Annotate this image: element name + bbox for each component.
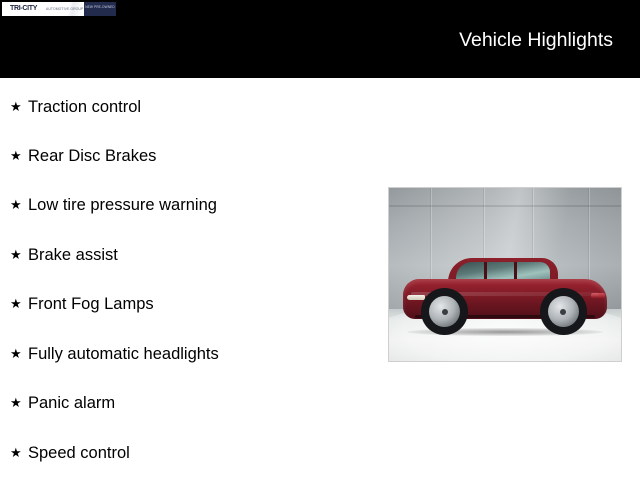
star-bullet-icon: ★ <box>10 291 28 317</box>
list-item: ★ Speed control <box>10 440 130 466</box>
list-item-label: Traction control <box>28 94 141 120</box>
taillight <box>591 293 605 298</box>
star-bullet-icon: ★ <box>10 440 28 466</box>
car-c-pillar <box>514 262 517 281</box>
list-item: ★ Fully automatic headlights <box>10 341 219 367</box>
wheel-rim <box>548 296 579 327</box>
list-item: ★ Front Fog Lamps <box>10 291 154 317</box>
star-bullet-icon: ★ <box>10 341 28 367</box>
logo-badge: NEW PRE-OWNED <box>84 2 116 16</box>
list-item-label: Front Fog Lamps <box>28 291 154 317</box>
list-item-label: Rear Disc Brakes <box>28 143 156 169</box>
page-title: Vehicle Highlights <box>459 29 613 52</box>
star-bullet-icon: ★ <box>10 242 28 268</box>
vehicle-photo[interactable] <box>388 187 622 362</box>
vehicle-photo-canvas <box>389 188 621 361</box>
list-item: ★ Brake assist <box>10 242 118 268</box>
headlight <box>407 295 425 300</box>
list-item: ★ Rear Disc Brakes <box>10 143 156 169</box>
list-item: ★ Panic alarm <box>10 390 115 416</box>
list-item: ★ Low tire pressure warning <box>10 192 217 218</box>
page-header: TRI-CITY AUTOMOTIVE GROUP NEW PRE-OWNED … <box>0 0 640 78</box>
list-item-label: Brake assist <box>28 242 118 268</box>
list-item-label: Low tire pressure warning <box>28 192 217 218</box>
star-bullet-icon: ★ <box>10 94 28 120</box>
list-item-label: Panic alarm <box>28 390 115 416</box>
wheel-rim <box>429 296 460 327</box>
logo-tagline: AUTOMOTIVE GROUP <box>46 7 83 12</box>
logo-brand-name: TRI-CITY <box>10 5 37 13</box>
car-illustration <box>403 261 607 330</box>
wall-band <box>389 205 621 207</box>
wheel-hub <box>442 309 448 315</box>
car-b-pillar <box>484 262 487 281</box>
star-bullet-icon: ★ <box>10 390 28 416</box>
logo-badge-label: NEW PRE-OWNED <box>84 5 116 9</box>
wheel-hub <box>560 309 566 315</box>
star-bullet-icon: ★ <box>10 143 28 169</box>
list-item-label: Fully automatic headlights <box>28 341 219 367</box>
rear-wheel <box>540 288 587 335</box>
star-bullet-icon: ★ <box>10 192 28 218</box>
list-item-label: Speed control <box>28 440 130 466</box>
car-window-glass <box>456 262 550 281</box>
dealer-logo[interactable]: TRI-CITY AUTOMOTIVE GROUP NEW PRE-OWNED <box>2 2 116 16</box>
list-item: ★ Traction control <box>10 94 141 120</box>
